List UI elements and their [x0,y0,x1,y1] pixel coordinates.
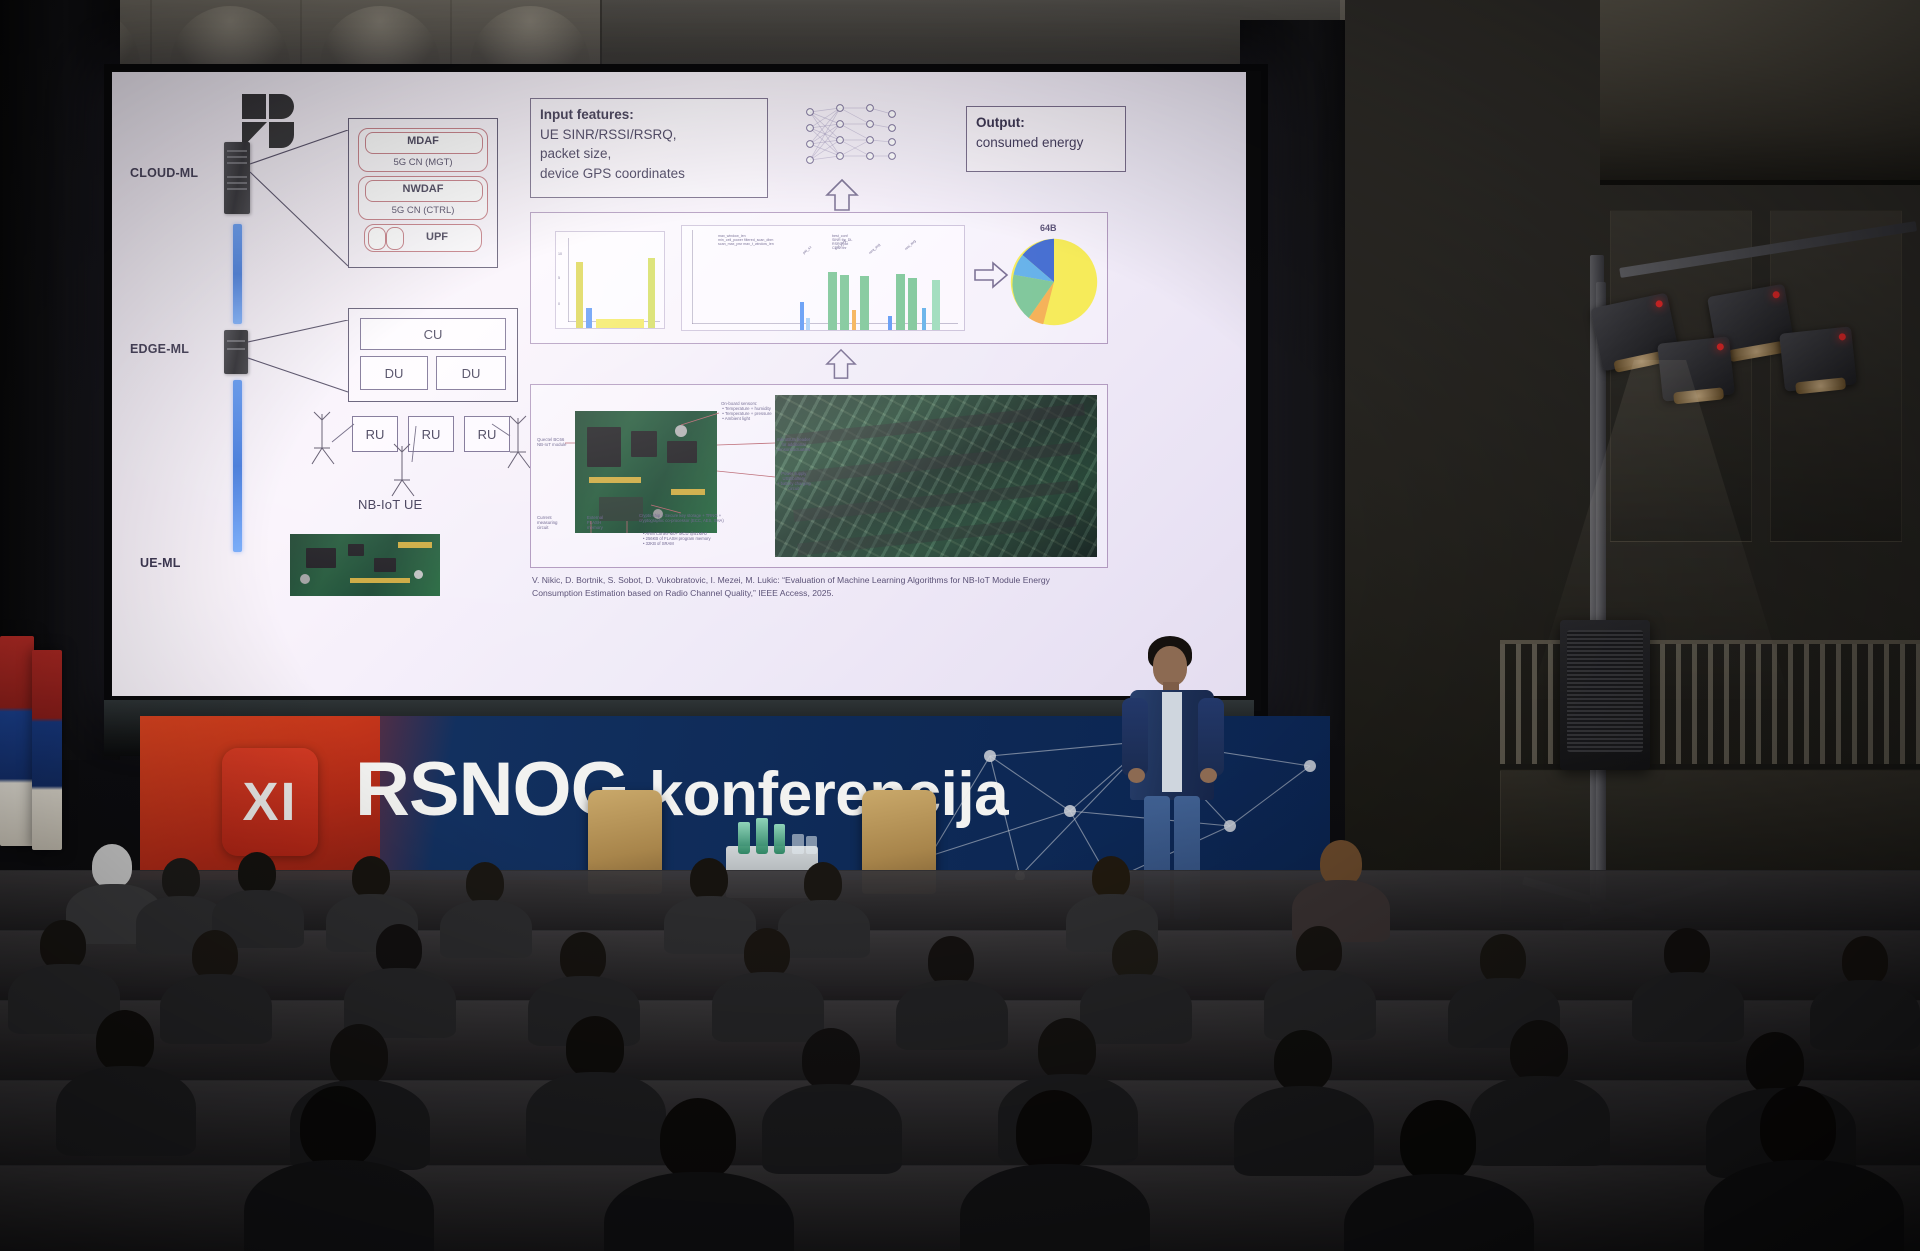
audience-head [560,932,606,982]
audience-head [802,1028,860,1090]
layer-label-edge: EDGE-ML [130,342,189,356]
up-arrow-icon-bottom [824,348,858,385]
audience-shoulders [664,896,756,954]
audience-shoulders [1632,972,1744,1042]
mini-chart-left: 10 5 0 [555,231,665,329]
stage-light-4 [1779,326,1857,391]
balcony [1600,0,1920,185]
audience-head [376,924,422,974]
fiber-link-edge-ue [233,380,242,552]
cloud-server-icon [224,142,250,214]
audience-shoulders [440,900,532,958]
audience-head [1038,1018,1096,1080]
audience-shoulders [1470,1076,1610,1166]
stage-light-3 [1657,336,1735,401]
du-box-2: DU [436,356,506,390]
speaker-shirt-front [1162,692,1182,792]
audience-shoulders [762,1084,902,1174]
pa-speaker-cabinet [1560,620,1650,770]
speaker-arm-right [1198,698,1224,776]
water-glass-1 [792,834,804,854]
speaker-head [1153,646,1187,686]
audience-head-foreground [660,1098,736,1180]
upf-box: UPF [364,224,482,252]
edge-server-icon [224,330,248,374]
audience-head [92,844,132,888]
edge-connector-lines [248,320,350,394]
nwdaf-box: NWDAF 5G CN (CTRL) [358,176,488,220]
cu-box: CU [360,318,506,350]
annotation-leader-lines [531,385,1107,567]
audience-head [238,852,276,894]
pie-chart-label: 64B [1040,223,1057,233]
presentation-slide: CLOUD-ML EDGE-ML UE-ML MDAF 5G CN (MGT) [112,72,1246,696]
audience-shoulders-foreground [960,1164,1150,1251]
audience-head [1296,926,1342,976]
audience-shoulders-foreground [244,1160,434,1251]
audience-shoulders [1234,1086,1374,1176]
audience-head [566,1016,624,1078]
audience-shoulders [1810,980,1920,1050]
audience-head [1842,936,1888,986]
audience-head [1112,930,1158,980]
audience-head [96,1010,154,1072]
hardware-panel: Quectel BC66NB-IoT module Currentmeasuri… [530,384,1108,568]
audience-head-foreground [1760,1086,1836,1168]
layer-label-ue: UE-ML [140,556,181,570]
antenna-icons [292,402,552,542]
audience-head [690,858,728,900]
audience-head [928,936,974,986]
audience-shoulders-foreground [1704,1160,1904,1251]
layer-label-cloud: CLOUD-ML [130,166,198,180]
audience-shoulders [1264,970,1376,1040]
audience-head-foreground [1400,1100,1476,1182]
audience-head [40,920,86,970]
results-charts-panel: 10 5 0 max_window_lenmin_cell_power filt… [530,212,1108,344]
speaker-hand-right [1200,768,1217,783]
ue-board-photo [290,534,440,596]
flag-2 [32,650,62,850]
edition-badge: XI [222,748,318,856]
audience-head [1274,1030,1332,1092]
audience-head [1480,934,1526,984]
audience-head [1664,928,1710,978]
audience-head [330,1024,388,1086]
truss-vertical [1596,282,1606,902]
flag-1 [0,636,34,846]
speaker-hand-left [1128,768,1145,783]
audience-head [744,928,790,978]
audience-shoulders [1080,974,1192,1044]
audience-head [192,930,238,980]
audience-shoulders [526,1072,666,1162]
du-box-1: DU [360,356,428,390]
water-bottle-1 [738,822,750,854]
mini-chart-right: max_window_lenmin_cell_power filtered_sc… [681,225,965,331]
neural-network-diagram [796,102,906,176]
audience-head [1510,1020,1568,1082]
water-glass-2 [806,836,817,854]
audience-head [804,862,842,904]
audience-head [466,862,504,904]
audience-head [1746,1032,1804,1094]
audience-shoulders [712,972,824,1042]
speaker-arm-left [1122,698,1148,776]
mdaf-box: MDAF 5G CN (MGT) [358,128,488,172]
citation-text: V. Nikic, D. Bortnik, S. Sobot, D. Vukob… [532,574,1092,600]
audience-shoulders [896,980,1008,1050]
output-box: Output: consumed energy [966,106,1126,172]
photo-scene: CLOUD-ML EDGE-ML UE-ML MDAF 5G CN (MGT) [0,0,1920,1251]
water-bottle-3 [774,824,785,854]
audience-shoulders [56,1066,196,1156]
cloud-connector-lines [250,130,350,270]
fiber-link-cloud-edge [233,224,242,324]
pie-chart [1009,237,1099,327]
audience-head-foreground [300,1086,376,1168]
water-bottle-2 [756,818,768,854]
audience-head [1092,856,1130,898]
nb-iot-ue-label: NB-IoT UE [358,497,422,512]
audience-shoulders [160,974,272,1044]
input-features-box: Input features: UE SINR/RSSI/RSRQ, packe… [530,98,768,198]
audience-shoulders [778,900,870,958]
projection-screen: CLOUD-ML EDGE-ML UE-ML MDAF 5G CN (MGT) [112,72,1246,696]
audience-head [352,856,390,898]
audience-head-foreground [1016,1090,1092,1172]
right-arrow-icon [973,261,1009,294]
audience-head [162,858,200,900]
